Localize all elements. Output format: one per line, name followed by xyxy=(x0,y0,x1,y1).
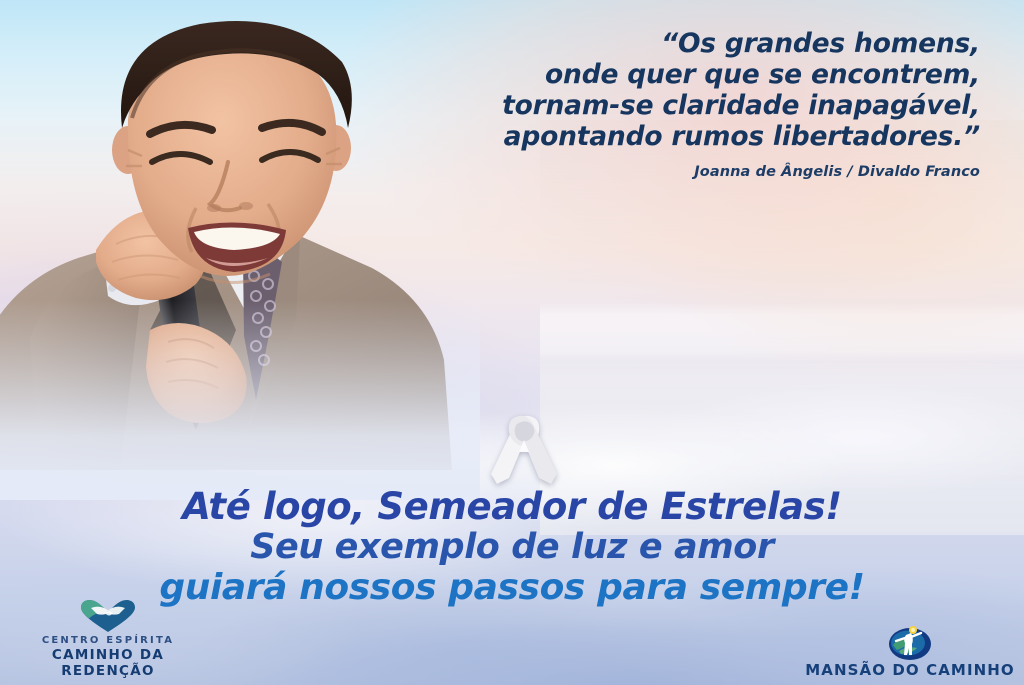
logo-left-line-2: CAMINHO DA REDENÇÃO xyxy=(8,647,208,679)
logo-centro-espirita: CENTRO ESPÍRITA CAMINHO DA REDENÇÃO xyxy=(8,598,208,679)
message-line-1: Até logo, Semeador de Estrelas! xyxy=(0,487,1024,527)
logo-mansao-do-caminho: MANSÃO DO CAMINHO xyxy=(804,625,1016,679)
globe-figure-shape xyxy=(887,625,933,661)
memorial-poster: “Os grandes homens, onde quer que se enc… xyxy=(0,0,1024,685)
main-message: Até logo, Semeador de Estrelas! Seu exem… xyxy=(0,487,1024,608)
quote-line-4: apontando rumos libertadores.” xyxy=(420,121,980,152)
logo-left-line-1: CENTRO ESPÍRITA xyxy=(8,634,208,647)
quote-attribution: Joanna de Ângelis / Divaldo Franco xyxy=(420,164,980,180)
heart-hands-shape xyxy=(79,599,137,633)
quote-block: “Os grandes homens, onde quer que se enc… xyxy=(420,28,980,180)
globe-figure-icon xyxy=(804,625,1016,661)
ribbon-shape xyxy=(487,408,561,490)
message-line-2: Seu exemplo de luz e amor xyxy=(0,527,1024,567)
heart-hands-icon xyxy=(8,598,208,634)
logo-right-line-1: MANSÃO DO CAMINHO xyxy=(804,661,1016,679)
quote-line-3: tornam-se claridade inapagável, xyxy=(420,90,980,121)
mourning-ribbon-icon xyxy=(487,408,561,490)
quote-line-2: onde quer que se encontrem, xyxy=(420,59,980,90)
quote-line-1: “Os grandes homens, xyxy=(420,28,980,59)
